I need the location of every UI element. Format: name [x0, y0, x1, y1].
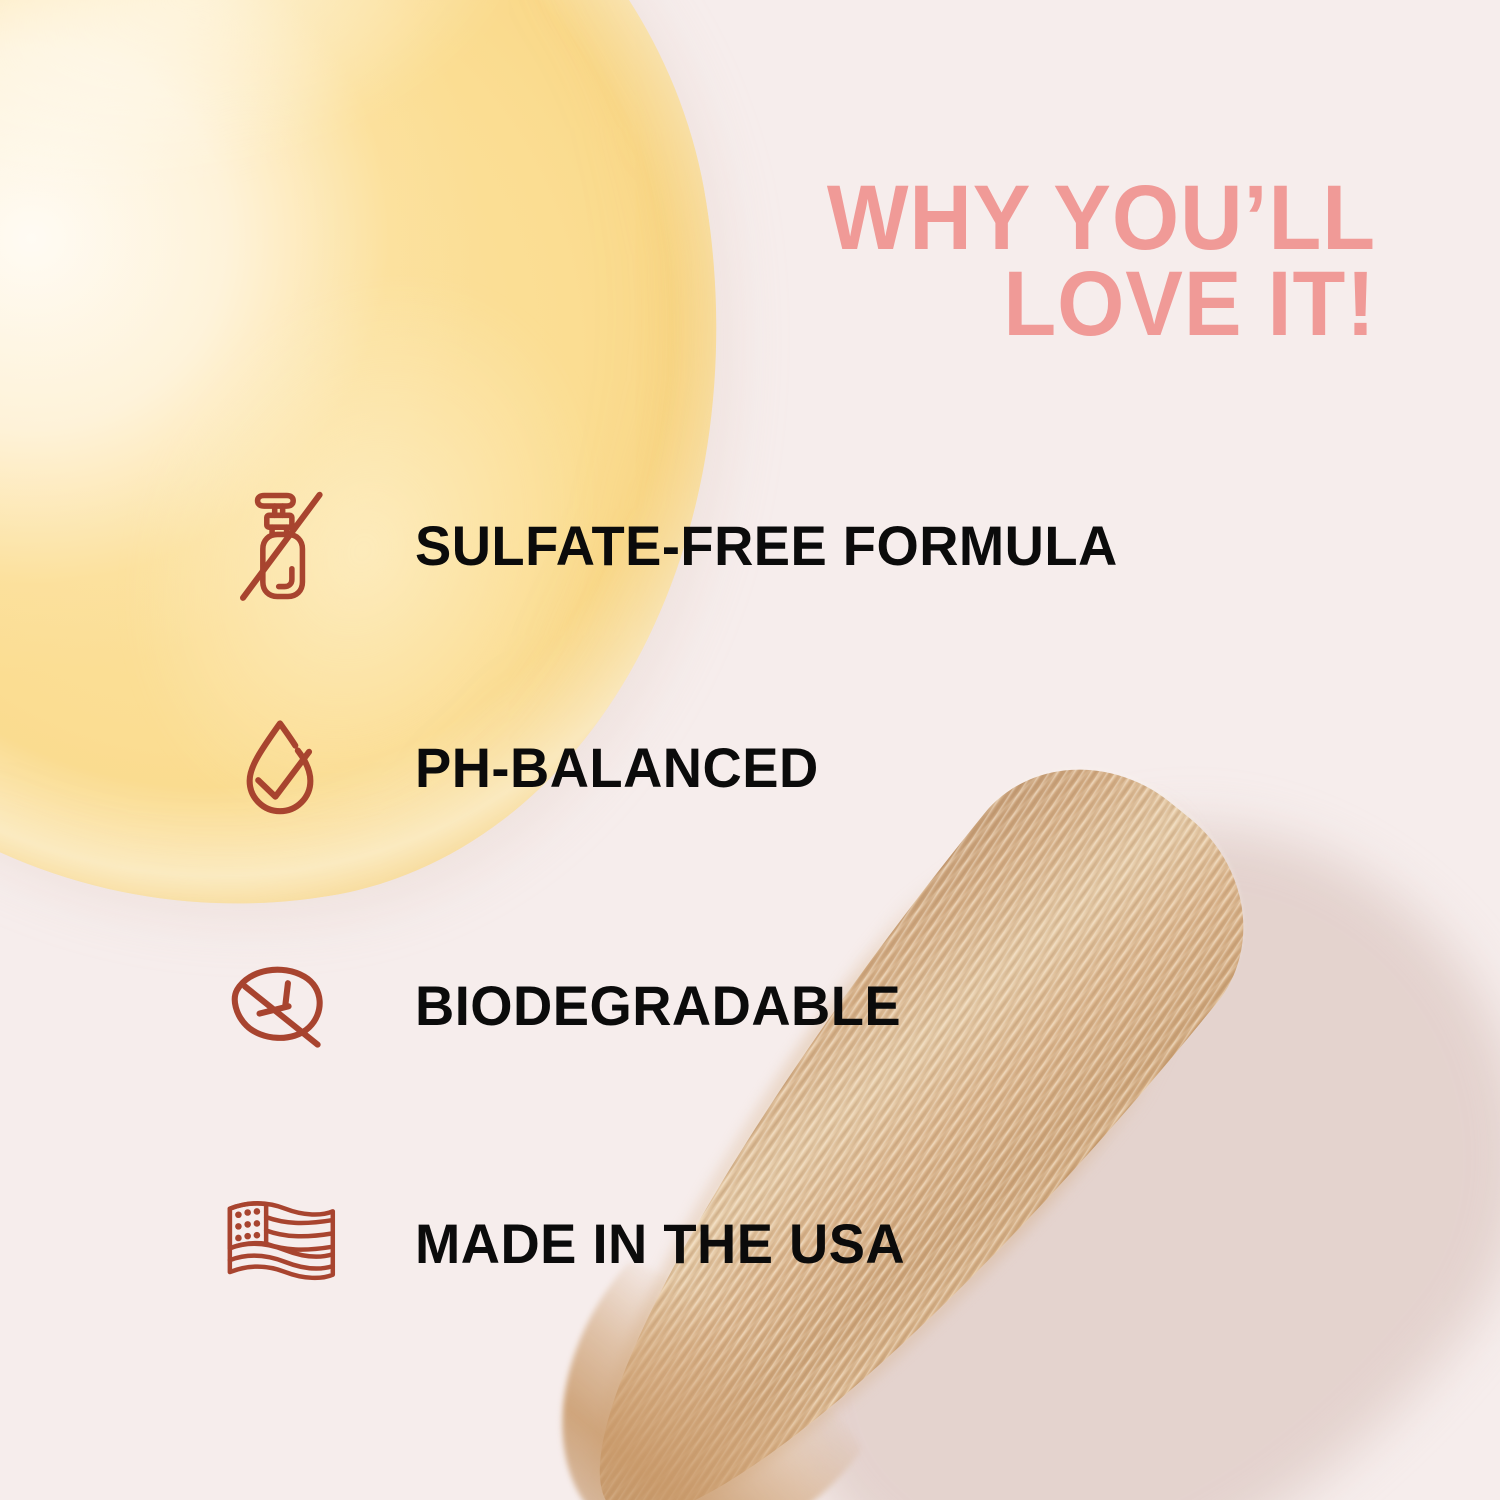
feature-item-ph-balanced: PH-BALANCED	[205, 692, 1265, 842]
feature-label: BIODEGRADABLE	[415, 973, 1240, 1038]
ph-balanced-droplet-check-icon	[205, 692, 355, 842]
feature-label: PH-BALANCED	[415, 735, 1240, 800]
feature-label: MADE IN THE USA	[415, 1211, 1240, 1276]
feature-label: SULFATE-FREE FORMULA	[415, 513, 1240, 578]
no-sulfate-bottle-icon	[205, 470, 355, 620]
page-title: WHY YOU’LL LOVE IT!	[699, 176, 1376, 347]
feature-item-made-in-usa: MADE IN THE USA	[205, 1168, 1265, 1318]
feature-item-biodegradable: BIODEGRADABLE	[205, 930, 1265, 1080]
feature-list: SULFATE-FREE FORMULA PH-BALANCED	[205, 470, 1265, 1318]
leaf-icon	[205, 930, 355, 1080]
product-benefits-poster: WHY YOU’LL LOVE IT!	[0, 0, 1500, 1500]
usa-flag-icon	[205, 1168, 355, 1318]
swatch-gloss-top	[0, 0, 566, 253]
feature-item-sulfate-free: SULFATE-FREE FORMULA	[205, 470, 1265, 620]
